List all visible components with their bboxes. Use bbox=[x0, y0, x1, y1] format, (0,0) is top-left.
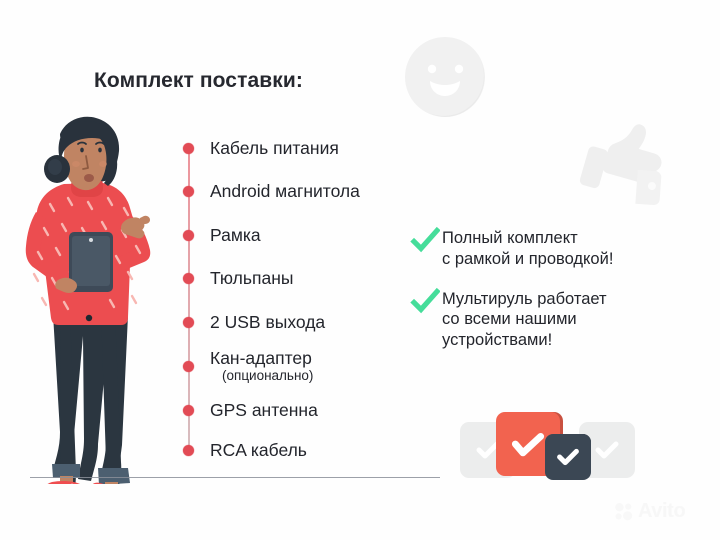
bullet-dot-icon bbox=[183, 445, 194, 456]
benefits-list: Полный комплект с рамкой и проводкой! Му… bbox=[410, 228, 710, 370]
list-item: Android магнитола bbox=[180, 182, 450, 201]
list-item-label: Android магнитола bbox=[210, 182, 360, 201]
white-check-icon bbox=[592, 435, 622, 465]
benefit-label: Полный комплект с рамкой и проводкой! bbox=[442, 228, 613, 270]
dark-check-card bbox=[545, 434, 591, 480]
poster-canvas: Комплект поставки: Кабель питания Androi… bbox=[0, 0, 720, 540]
benefit-row: Полный комплект с рамкой и проводкой! bbox=[410, 228, 710, 270]
list-item: Кабель питания bbox=[180, 139, 450, 158]
list-item-label: Тюльпаны bbox=[210, 269, 293, 288]
bullet-dot-icon bbox=[183, 273, 194, 284]
bullet-dot-icon bbox=[183, 143, 194, 154]
checkbox-cards-illustration bbox=[460, 412, 635, 482]
list-item-label: Кан-адаптер (опционально) bbox=[210, 349, 313, 383]
white-check-icon bbox=[509, 425, 547, 463]
bullet-dot-icon bbox=[183, 361, 194, 372]
list-item-note: (опционально) bbox=[222, 369, 313, 384]
list-item: GPS антенна bbox=[180, 401, 450, 420]
list-item: RCA кабель bbox=[180, 441, 450, 460]
smiley-face-icon bbox=[404, 36, 486, 118]
avito-logo-icon bbox=[614, 502, 634, 522]
bullet-dot-icon bbox=[183, 317, 194, 328]
list-item-label: GPS антенна bbox=[210, 401, 318, 420]
white-check-icon bbox=[554, 443, 582, 471]
list-item-label: 2 USB выхода bbox=[210, 313, 325, 332]
bullet-dot-icon bbox=[183, 230, 194, 241]
list-item-label: RCA кабель bbox=[210, 441, 307, 460]
green-check-icon bbox=[410, 226, 440, 256]
green-check-icon bbox=[410, 287, 440, 317]
bullet-dot-icon bbox=[183, 405, 194, 416]
ground-line bbox=[30, 477, 440, 478]
bullet-dot-icon bbox=[183, 186, 194, 197]
list-item-title: Кан-адаптер bbox=[210, 348, 312, 368]
avito-wordmark: Avito bbox=[638, 500, 685, 523]
avito-watermark: Avito bbox=[614, 500, 685, 523]
woman-with-tablet-illustration bbox=[8, 112, 168, 484]
list-item-label: Рамка bbox=[210, 226, 261, 245]
benefit-row: Мультируль работает со всеми нашими устр… bbox=[410, 289, 710, 351]
list-item-label: Кабель питания bbox=[210, 139, 339, 158]
page-title: Комплект поставки: bbox=[94, 69, 303, 93]
benefit-label: Мультируль работает со всеми нашими устр… bbox=[442, 289, 607, 351]
thumbs-up-icon bbox=[574, 112, 678, 216]
